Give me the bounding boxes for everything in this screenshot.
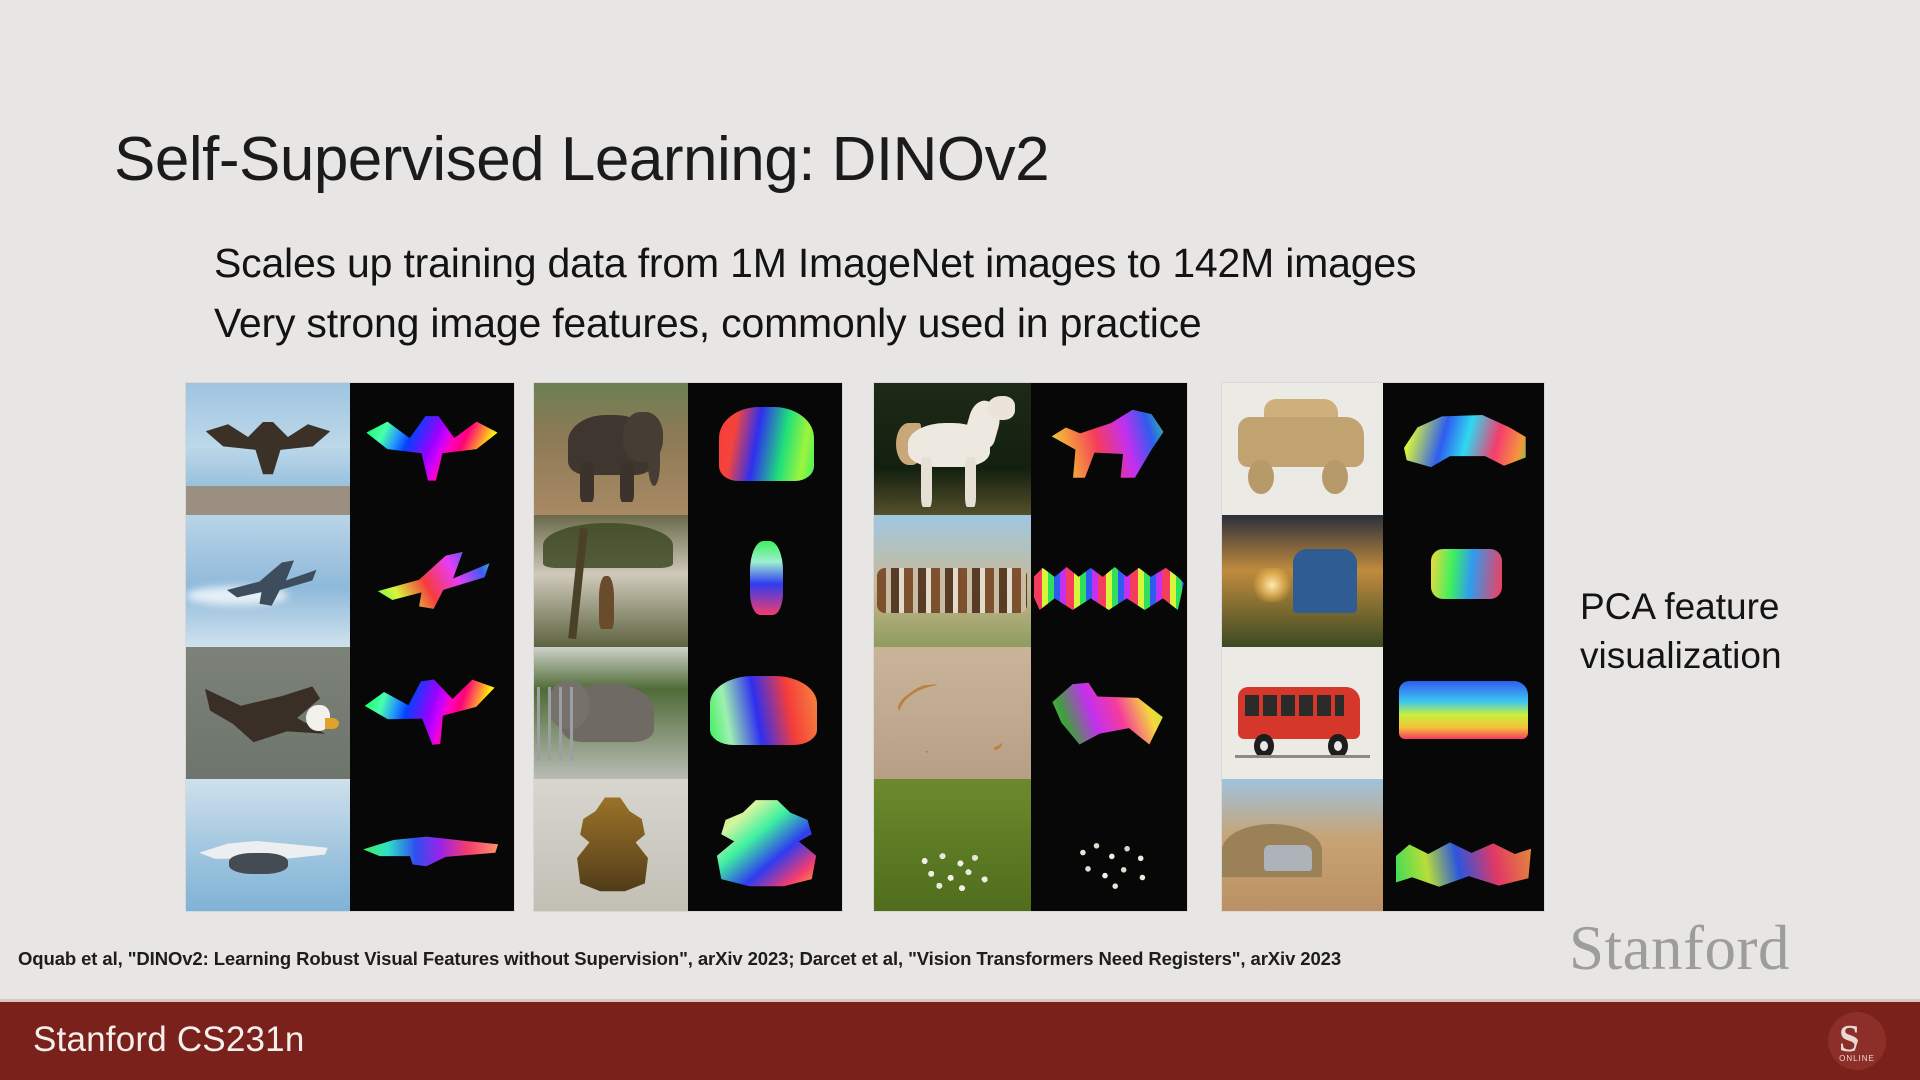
pca-blob: [1396, 837, 1531, 890]
photo-airliner-in-flight: [186, 779, 350, 911]
pca-blob: [713, 800, 821, 890]
person-shape: [599, 576, 614, 629]
horse-line-drawing-shape: [896, 681, 1015, 756]
photo-column: [534, 383, 688, 911]
pca-blob: [710, 676, 818, 745]
pca-blob: [750, 541, 784, 615]
course-label: Stanford CS231n: [33, 1020, 305, 1060]
pca-column: [350, 383, 514, 911]
pca-blob: [719, 407, 814, 481]
pca-blob: [1071, 842, 1156, 890]
elephant-leg-shape: [620, 462, 634, 502]
photo-line-drawing-of-horse: [874, 647, 1031, 779]
horse-leg-shape: [921, 457, 932, 507]
photo-person-by-palm-trees: [534, 515, 688, 647]
photo-column: [874, 383, 1031, 911]
pca-column: [1383, 383, 1544, 911]
figure-panel-elephants-and-statue: [534, 383, 842, 911]
photo-white-horse-trotting: [874, 383, 1031, 515]
figure-panel-horses: [874, 383, 1187, 911]
pca-rainbow-person-silhouette: [688, 515, 842, 647]
red-bus-windows-shape: [1245, 695, 1345, 716]
palm-frond-shape: [543, 523, 672, 568]
citation-text: Oquab et al, "DINOv2: Learning Robust Vi…: [18, 948, 1341, 970]
pca-blob: [1399, 681, 1528, 739]
photo-herd-of-running-horses: [874, 515, 1031, 647]
photo-eagle-with-spread-wings-on-shore: [186, 383, 350, 515]
pca-column: [688, 383, 842, 911]
pca-rainbow-bird-silhouette: [350, 383, 514, 515]
pca-blob: [366, 412, 497, 481]
stanford-online-logo-icon: S ONLINE: [1828, 1012, 1886, 1070]
pca-blob: [1052, 679, 1165, 748]
slide-body-line-2: Very strong image features, commonly use…: [214, 300, 1202, 347]
eagle-shape: [206, 417, 331, 475]
logo-sublabel: ONLINE: [1828, 1054, 1886, 1063]
photo-elephant-on-hillside: [534, 383, 688, 515]
pca-blob: [373, 549, 494, 612]
pca-rainbow-eagle-silhouette: [350, 647, 514, 779]
pca-rainbow-jet-silhouette: [350, 515, 514, 647]
pca-column: [1031, 383, 1188, 911]
photo-suv-on-desert-dunes: [1222, 779, 1383, 911]
photo-blue-bus-on-sunset-road: [1222, 515, 1383, 647]
slide-title: Self-Supervised Learning: DINOv2: [114, 124, 1049, 195]
figure-panel-birds-and-planes: [186, 383, 514, 911]
pca-rainbow-desert-scatter: [1383, 779, 1544, 911]
photo-red-bus-illustration: [1222, 647, 1383, 779]
photo-column: [186, 383, 350, 911]
elephant-leg-shape: [580, 462, 594, 502]
photo-sheep-in-green-field: [874, 779, 1031, 911]
photo-toy-model-car: [1222, 383, 1383, 515]
photo-fighter-jet-over-clouds: [186, 515, 350, 647]
sun-glow-shape: [1251, 568, 1293, 602]
pca-blob: [1049, 407, 1168, 481]
photo-elephant-behind-fence: [534, 647, 688, 779]
pca-rainbow-horse-herd: [1031, 515, 1188, 647]
stanford-watermark: Stanford: [1569, 912, 1790, 985]
slide-canvas: Self-Supervised Learning: DINOv2 Scales …: [0, 0, 1920, 1080]
pca-blob: [1431, 549, 1502, 599]
pca-rainbow-bus-silhouette: [1383, 647, 1544, 779]
statue-shape: [574, 797, 651, 895]
pca-rainbow-small-bus: [1383, 515, 1544, 647]
toy-car-wheel-shape: [1248, 460, 1274, 494]
horse-leg-shape: [965, 457, 976, 507]
horse-herd-shape: [877, 568, 1027, 613]
photo-brass-ganesha-statue: [534, 779, 688, 911]
elephant-trunk-shape: [648, 438, 660, 486]
pca-blob: [1034, 565, 1184, 610]
pca-rainbow-car-silhouette: [1383, 383, 1544, 515]
pca-blob: [1396, 407, 1531, 476]
toy-car-wheel-shape: [1322, 460, 1348, 494]
horse-head-shape: [987, 396, 1015, 420]
blue-bus-shape: [1293, 549, 1357, 612]
fence-shape: [537, 687, 577, 761]
airliner-underside: [229, 853, 288, 874]
pca-rainbow-statue-silhouette: [688, 779, 842, 911]
pca-feature-visualization-caption: PCA feature visualization: [1580, 583, 1880, 681]
pca-rainbow-sketch-horse: [1031, 647, 1188, 779]
bottom-bar: Stanford CS231n S ONLINE: [0, 999, 1920, 1080]
pca-scattered-speckle-map: [1031, 779, 1188, 911]
sheep-flock-shape: [915, 853, 996, 893]
pca-rainbow-elephant-silhouette: [688, 383, 842, 515]
pca-rainbow-airplane-silhouette: [350, 779, 514, 911]
photo-bald-eagle-diving: [186, 647, 350, 779]
pca-rainbow-elephant-silhouette-2: [688, 647, 842, 779]
ground-line: [1235, 755, 1370, 758]
tree-icon: [1855, 1022, 1873, 1050]
pca-blob: [363, 827, 501, 869]
pca-rainbow-horse-silhouette: [1031, 383, 1188, 515]
pca-figure-grid: [186, 383, 1556, 911]
slide-body-line-1: Scales up training data from 1M ImageNet…: [214, 240, 1416, 287]
figure-panel-vehicles: [1222, 383, 1544, 911]
eagle-beak-shape: [325, 718, 338, 729]
photo-column: [1222, 383, 1383, 911]
suv-shape: [1264, 845, 1312, 871]
pca-blob: [362, 667, 501, 753]
shore-band: [186, 486, 350, 515]
